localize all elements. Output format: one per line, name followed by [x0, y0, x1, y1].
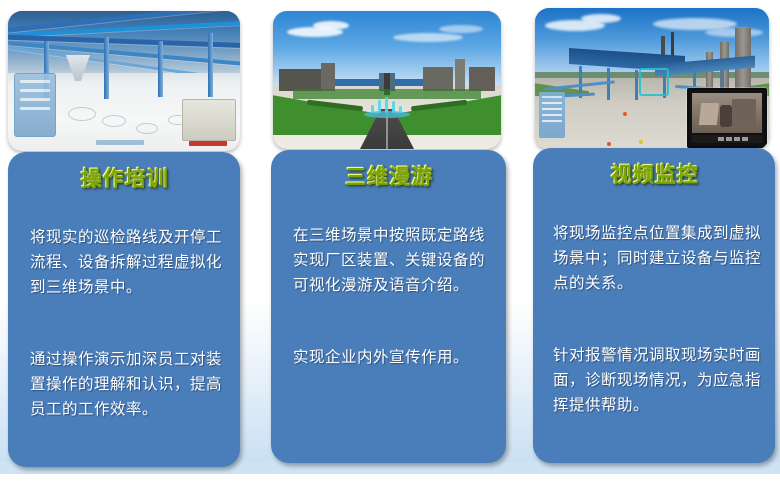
- video-feed-image: [692, 93, 762, 133]
- ceiling-pipes: [8, 11, 240, 73]
- card-title-video-surveillance: 视频监控: [533, 158, 775, 188]
- scene-info-panel: [14, 73, 56, 137]
- card-thumbnail-operation-training: [8, 11, 240, 151]
- video-control-button[interactable]: [742, 137, 748, 141]
- card-text-video-surveillance: 将现场监控点位置集成到虚拟场景中；同时建立设备与监控点的关系。 针对报警情况调取…: [553, 196, 761, 443]
- video-control-button[interactable]: [734, 137, 740, 141]
- scene-outdoor-plaza: [273, 11, 501, 149]
- card-thumbnail-video-surveillance: [535, 8, 769, 150]
- card-text-operation-training: 将现实的巡检路线及开停工流程、设备拆解过程虚拟化到三维场景中。 通过操作演示加深…: [30, 200, 224, 447]
- paragraph: 在三维场景中按照既定路线实现厂区装置、关键设备的可视化漫游及语音介绍。: [293, 223, 490, 298]
- video-control-button[interactable]: [726, 137, 732, 141]
- card-body-video-surveillance: 视频监控 将现场监控点位置集成到虚拟场景中；同时建立设备与监控点的关系。 针对报…: [533, 148, 775, 463]
- paragraph: 将现场监控点位置集成到虚拟场景中；同时建立设备与监控点的关系。: [553, 221, 761, 296]
- card-title-three-dimensional-roaming: 三维漫游: [271, 160, 506, 190]
- paragraph: 针对报警情况调取现场实时画面，诊断现场情况，为应急指挥提供帮助。: [553, 343, 761, 418]
- card-body-operation-training: 操作培训 将现实的巡检路线及开停工流程、设备拆解过程虚拟化到三维场景中。 通过操…: [8, 152, 240, 467]
- video-control-button[interactable]: [718, 137, 724, 141]
- paragraph: 将现实的巡检路线及开停工流程、设备拆解过程虚拟化到三维场景中。: [30, 225, 224, 300]
- scene-indoor-plant: [8, 11, 240, 151]
- card-title-operation-training: 操作培训: [8, 162, 240, 192]
- scene-fountain: [367, 93, 407, 113]
- scene-equipment: [182, 99, 236, 141]
- video-control-bar[interactable]: [692, 135, 762, 143]
- scene-plant-exterior: [535, 8, 769, 150]
- paragraph: 通过操作演示加深员工对装置操作的理解和认识，提高员工的工作效率。: [30, 347, 224, 422]
- slide-canvas: 操作培训 将现实的巡检路线及开停工流程、设备拆解过程虚拟化到三维场景中。 通过操…: [0, 0, 780, 491]
- video-feed-overlay[interactable]: [687, 88, 767, 148]
- paragraph: 实现企业内外宣传作用。: [293, 345, 490, 370]
- card-text-three-dimensional-roaming: 在三维场景中按照既定路线实现厂区装置、关键设备的可视化漫游及语音介绍。 实现企业…: [293, 198, 490, 395]
- scene-hud-panel: [539, 92, 565, 138]
- card-body-three-dimensional-roaming: 三维漫游 在三维场景中按照既定路线实现厂区装置、关键设备的可视化漫游及语音介绍。…: [271, 150, 506, 463]
- card-thumbnail-three-dimensional-roaming: [273, 11, 501, 149]
